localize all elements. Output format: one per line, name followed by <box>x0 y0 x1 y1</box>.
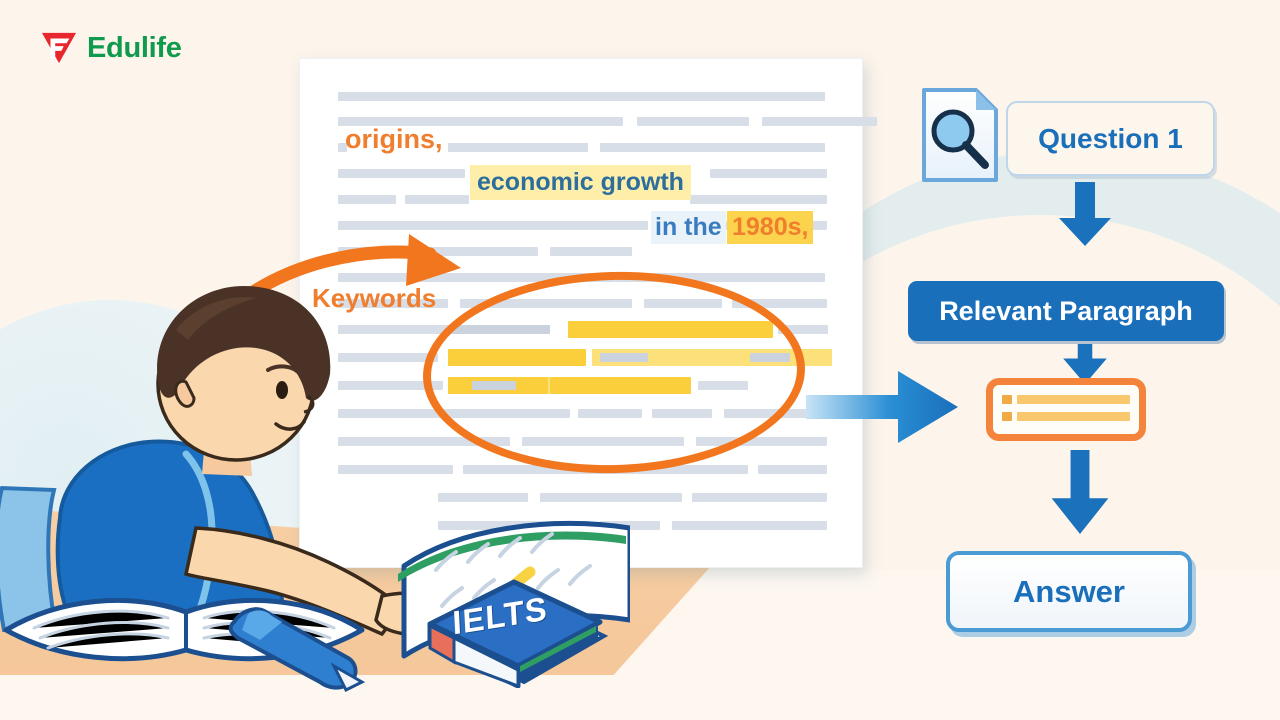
document-magnifier-icon <box>919 85 1001 185</box>
relevant-paragraph-label: Relevant Paragraph <box>939 296 1193 327</box>
keyword-1980s: 1980s, <box>727 211 813 244</box>
answer-box[interactable]: Answer <box>946 551 1192 632</box>
brand-name: Edulife <box>87 32 182 65</box>
question-box[interactable]: Question 1 <box>1006 101 1215 176</box>
highlighted-paragraph-card-icon <box>986 378 1146 441</box>
keyword-in-the: in the <box>651 211 726 244</box>
brand-logo: Edulife <box>40 30 182 66</box>
question-label: Question 1 <box>1038 123 1183 155</box>
relevant-paragraph-box[interactable]: Relevant Paragraph <box>908 281 1224 341</box>
arrow-down-icon-3 <box>1038 450 1122 534</box>
keyword-economic-growth: economic growth <box>470 165 691 200</box>
transfer-arrow-right-icon <box>806 368 958 446</box>
answer-label: Answer <box>1013 574 1125 610</box>
infographic-canvas: Edulife <box>0 0 1280 720</box>
keyword-origins: origins, <box>345 124 443 155</box>
triangle-f-mark-icon <box>40 30 78 66</box>
arrow-down-icon-1 <box>1055 182 1115 246</box>
